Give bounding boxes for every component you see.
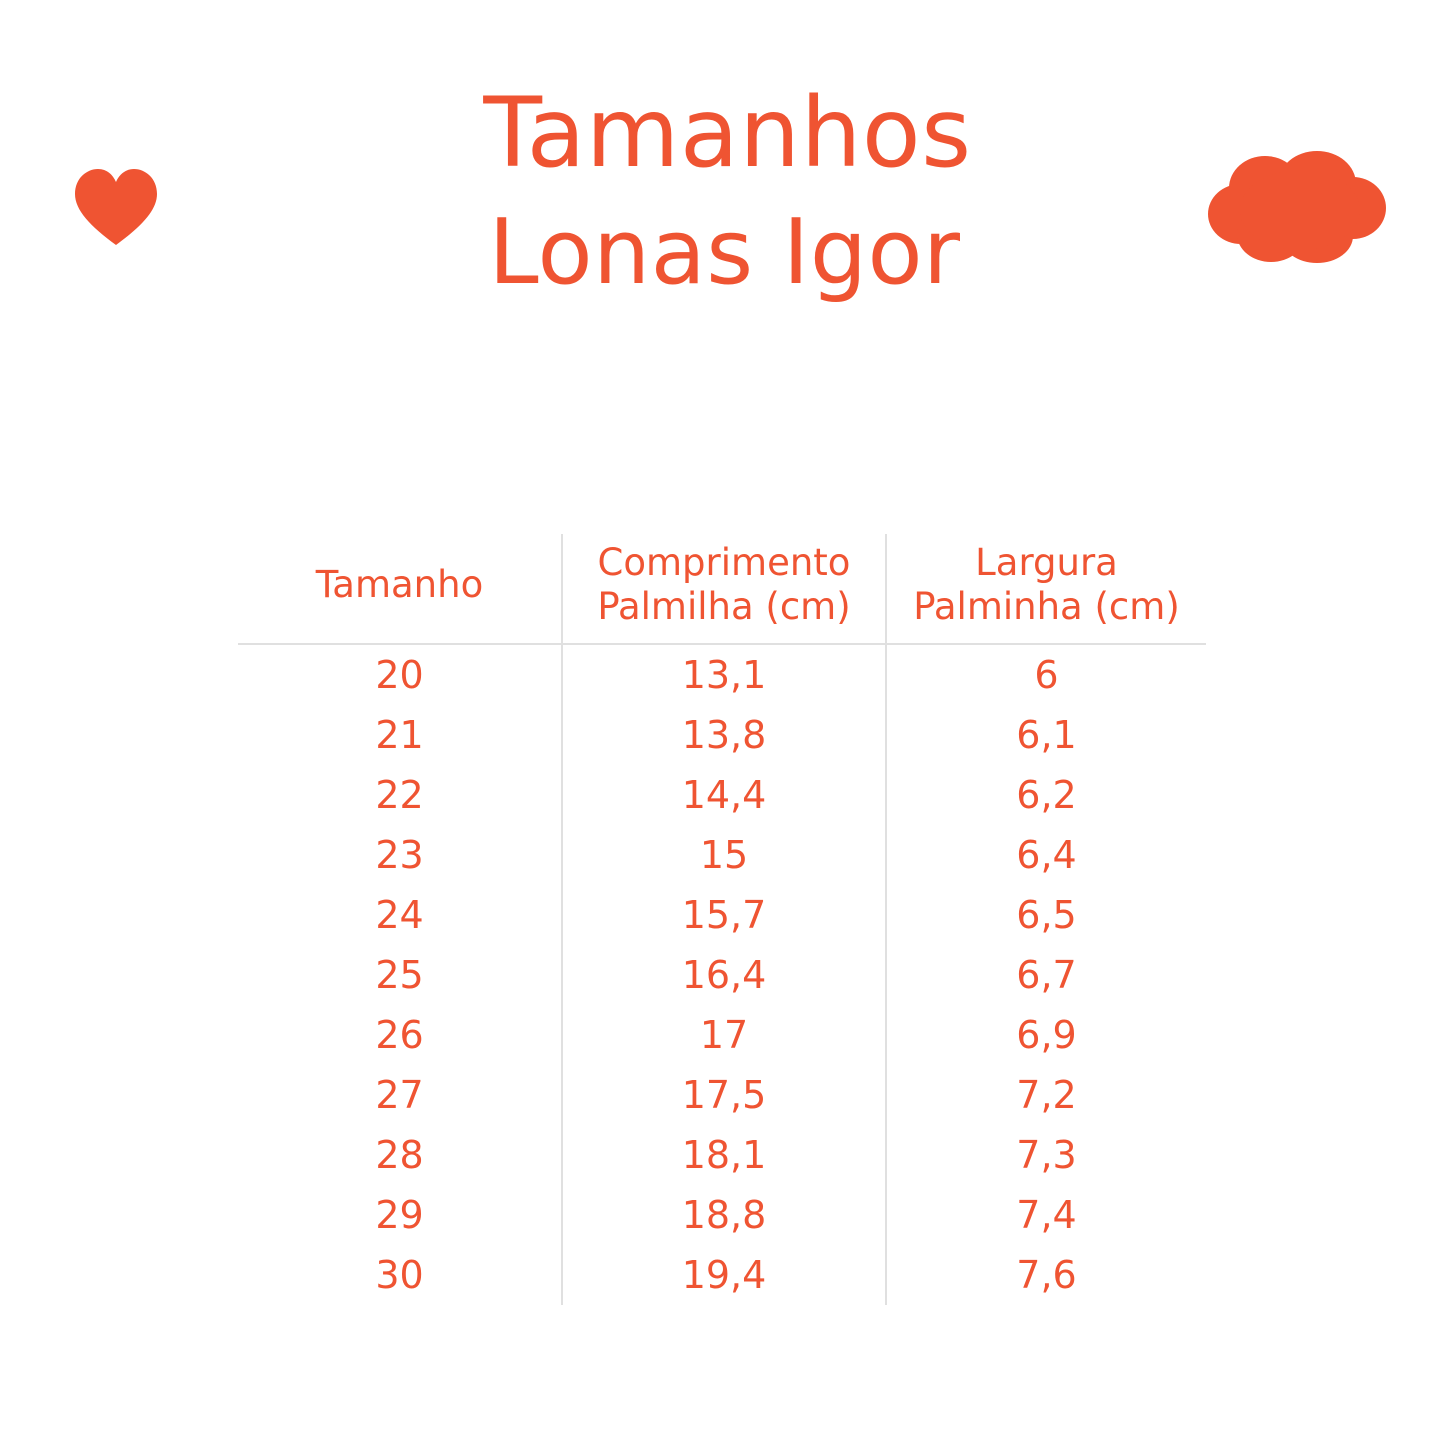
table-row: 2214,46,2	[238, 765, 1206, 825]
cell-largura: 6,7	[886, 945, 1206, 1005]
column-header-largura-line1: Largura	[891, 541, 1202, 585]
column-header-largura: Largura Palminha (cm)	[886, 534, 1206, 644]
cell-largura: 7,4	[886, 1185, 1206, 1245]
cell-tamanho: 24	[238, 885, 562, 945]
title-line-1: Tamanhos	[0, 72, 1445, 194]
table-row: 2415,76,5	[238, 885, 1206, 945]
cell-comprimento: 15	[562, 825, 886, 885]
cell-largura: 7,6	[886, 1245, 1206, 1305]
table-row: 2918,87,4	[238, 1185, 1206, 1245]
cell-largura: 7,2	[886, 1065, 1206, 1125]
table-head: Tamanho Comprimento Palmilha (cm) Largur…	[238, 534, 1206, 644]
column-header-tamanho: Tamanho	[238, 534, 562, 644]
table-row: 23156,4	[238, 825, 1206, 885]
cell-tamanho: 27	[238, 1065, 562, 1125]
table-row: 3019,47,6	[238, 1245, 1206, 1305]
size-table: Tamanho Comprimento Palmilha (cm) Largur…	[238, 534, 1206, 1305]
cell-largura: 6,4	[886, 825, 1206, 885]
column-header-tamanho-line1: Tamanho	[242, 563, 557, 607]
cell-tamanho: 25	[238, 945, 562, 1005]
cell-comprimento: 16,4	[562, 945, 886, 1005]
table-row: 2013,16	[238, 644, 1206, 705]
cell-tamanho: 26	[238, 1005, 562, 1065]
column-header-comprimento-line2: Palmilha (cm)	[567, 585, 881, 629]
cell-largura: 6	[886, 644, 1206, 705]
cell-largura: 6,2	[886, 765, 1206, 825]
cell-tamanho: 30	[238, 1245, 562, 1305]
cell-largura: 6,9	[886, 1005, 1206, 1065]
cell-comprimento: 18,8	[562, 1185, 886, 1245]
cell-tamanho: 22	[238, 765, 562, 825]
cell-tamanho: 29	[238, 1185, 562, 1245]
table-body: 2013,162113,86,12214,46,223156,42415,76,…	[238, 644, 1206, 1305]
column-header-comprimento: Comprimento Palmilha (cm)	[562, 534, 886, 644]
cell-comprimento: 15,7	[562, 885, 886, 945]
column-header-largura-line2: Palminha (cm)	[891, 585, 1202, 629]
cell-comprimento: 13,1	[562, 644, 886, 705]
cell-largura: 6,1	[886, 705, 1206, 765]
column-header-comprimento-line1: Comprimento	[567, 541, 881, 585]
cell-comprimento: 19,4	[562, 1245, 886, 1305]
cell-tamanho: 23	[238, 825, 562, 885]
cell-comprimento: 14,4	[562, 765, 886, 825]
table-row: 2113,86,1	[238, 705, 1206, 765]
cell-largura: 7,3	[886, 1125, 1206, 1185]
cell-comprimento: 13,8	[562, 705, 886, 765]
table-header-row: Tamanho Comprimento Palmilha (cm) Largur…	[238, 534, 1206, 644]
table-row: 26176,9	[238, 1005, 1206, 1065]
table-row: 2516,46,7	[238, 945, 1206, 1005]
cell-tamanho: 28	[238, 1125, 562, 1185]
cell-comprimento: 18,1	[562, 1125, 886, 1185]
cell-tamanho: 21	[238, 705, 562, 765]
size-chart-page: Tamanhos Lonas Igor Tamanho Comprimento …	[0, 0, 1445, 1443]
page-title: Tamanhos Lonas Igor	[0, 72, 1445, 312]
cell-comprimento: 17,5	[562, 1065, 886, 1125]
cell-comprimento: 17	[562, 1005, 886, 1065]
table-row: 2717,57,2	[238, 1065, 1206, 1125]
title-line-2: Lonas Igor	[0, 194, 1445, 312]
cell-largura: 6,5	[886, 885, 1206, 945]
table-row: 2818,17,3	[238, 1125, 1206, 1185]
cell-tamanho: 20	[238, 644, 562, 705]
size-table-wrapper: Tamanho Comprimento Palmilha (cm) Largur…	[238, 534, 1206, 1306]
